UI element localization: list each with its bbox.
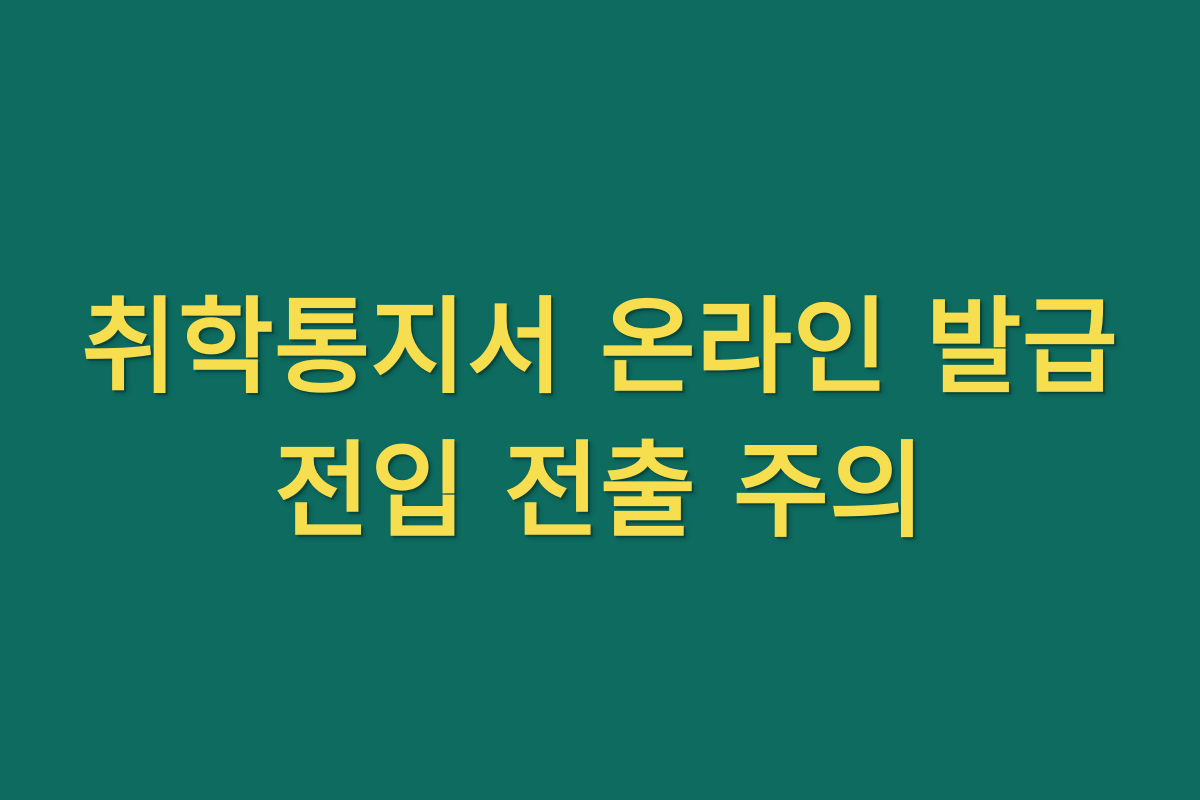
banner-canvas: 취학통지서 온라인 발급 전입 전출 주의: [0, 0, 1200, 800]
headline-line-1: 취학통지서 온라인 발급: [0, 286, 1200, 408]
headline-line-2: 전입 전출 주의: [0, 430, 1200, 552]
headline-text-block: 취학통지서 온라인 발급 전입 전출 주의: [0, 286, 1200, 552]
